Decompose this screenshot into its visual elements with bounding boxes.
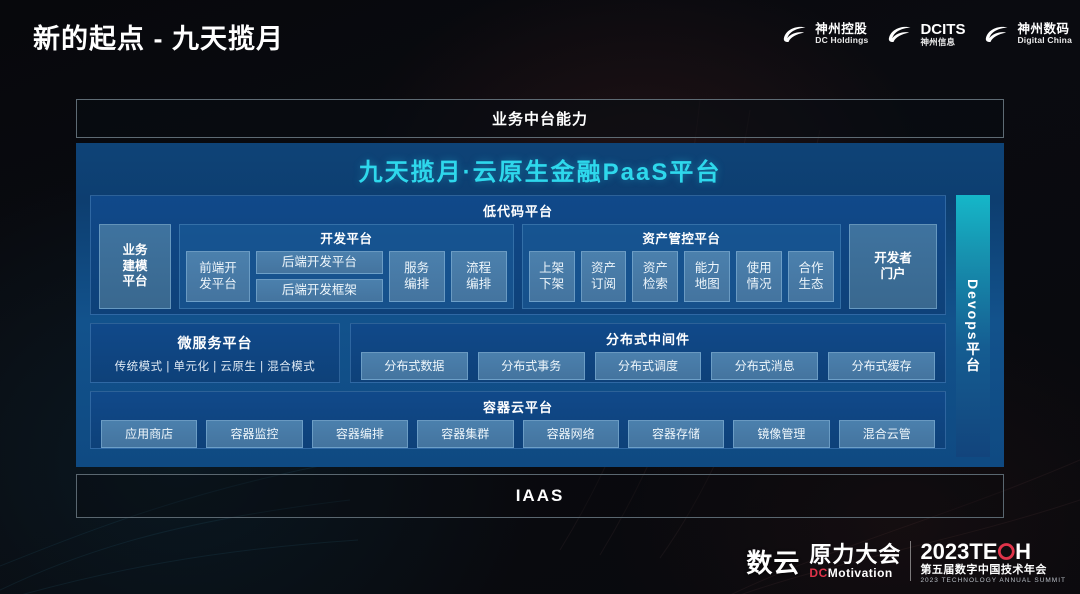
conference-year-post: H xyxy=(1015,539,1031,564)
tile-partner-ecosystem[interactable]: 合作 生态 xyxy=(788,251,834,302)
tile-backend-dev-platform[interactable]: 后端开发平台 xyxy=(256,251,383,274)
tile-container-cluster[interactable]: 容器集群 xyxy=(417,420,513,448)
iaas-layer-bar: IAAS xyxy=(76,474,1004,518)
tile-business-modeling-platform[interactable]: 业务 建模 平台 xyxy=(99,224,171,309)
tile-container-storage[interactable]: 容器存储 xyxy=(628,420,724,448)
slide-header: 新的起点 - 九天揽月 神州控股 DC Holdings DCITS 神州信息 xyxy=(0,0,1080,72)
tile-usage-status[interactable]: 使用 情况 xyxy=(736,251,782,302)
tile-process-orch-line2: 编排 xyxy=(466,277,491,293)
logo-dc-holdings: 神州控股 DC Holdings xyxy=(781,23,868,45)
conference-divider xyxy=(910,541,911,581)
tile-distributed-cache[interactable]: 分布式缓存 xyxy=(828,352,935,380)
conference-event-en-rest: Motivation xyxy=(828,566,893,580)
lowcode-platform-title: 低代码平台 xyxy=(99,196,937,224)
microservice-platform-modes: 传统模式 | 单元化 | 云原生 | 混合模式 xyxy=(115,358,316,374)
distributed-middleware-section: 分布式中间件 分布式数据 分布式事务 分布式调度 分布式消息 分布式缓存 xyxy=(350,323,946,383)
business-midplatform-capability-label: 业务中台能力 xyxy=(492,108,588,129)
tile-asset-5-line2: 生态 xyxy=(799,277,824,293)
tile-hybrid-cloud-management[interactable]: 混合云管 xyxy=(839,420,935,448)
page-title: 新的起点 - 九天揽月 xyxy=(33,17,284,56)
tile-developer-portal-line1: 开发者 xyxy=(874,251,912,267)
logo-dc-holdings-en: DC Holdings xyxy=(815,36,868,45)
tile-asset-0-line1: 上架 xyxy=(539,261,564,277)
paas-platform-body: Devops平台 低代码平台 业务 建模 平台 xyxy=(76,195,1004,459)
tile-asset-1-line2: 订阅 xyxy=(591,277,616,293)
tile-service-orchestration[interactable]: 服务 编排 xyxy=(389,251,445,302)
microservice-platform-section[interactable]: 微服务平台 传统模式 | 单元化 | 云原生 | 混合模式 xyxy=(90,323,340,383)
tile-frontend-dev-platform[interactable]: 前端开 发平台 xyxy=(186,251,250,302)
logo-digital-china-en: Digital China xyxy=(1017,36,1072,45)
container-cloud-title: 容器云平台 xyxy=(101,392,935,420)
tile-asset-5-line1: 合作 xyxy=(799,261,824,277)
tile-asset-onoff-shelf[interactable]: 上架 下架 xyxy=(529,251,575,302)
tile-asset-3-line2: 地图 xyxy=(695,277,720,293)
microservice-middleware-row: 微服务平台 传统模式 | 单元化 | 云原生 | 混合模式 分布式中间件 分布式… xyxy=(90,323,946,383)
tile-image-management[interactable]: 镜像管理 xyxy=(733,420,829,448)
conference-summit-en: 2023 TECHNOLOGY ANNUAL SUMMIT xyxy=(920,577,1066,584)
distributed-middleware-title: 分布式中间件 xyxy=(361,324,935,352)
conference-brand-cn: 数云 xyxy=(746,543,800,580)
tile-container-monitoring[interactable]: 容器监控 xyxy=(206,420,302,448)
tile-developer-portal[interactable]: 开发者 门户 xyxy=(849,224,937,309)
tile-distributed-transaction[interactable]: 分布式事务 xyxy=(478,352,585,380)
tile-process-orch-line1: 流程 xyxy=(466,261,491,277)
tile-app-store[interactable]: 应用商店 xyxy=(101,420,197,448)
tile-process-orchestration[interactable]: 流程 编排 xyxy=(451,251,507,302)
backend-tiles-group: 后端开发平台 后端开发框架 xyxy=(256,251,383,302)
dcits-swirl-logo-icon xyxy=(886,23,914,45)
tile-container-orchestration[interactable]: 容器编排 xyxy=(312,420,408,448)
conference-summit-cn: 第五届数字中国技术年会 xyxy=(920,564,1066,577)
iaas-label: IAAS xyxy=(516,486,565,506)
slide-root: 新的起点 - 九天揽月 神州控股 DC Holdings DCITS 神州信息 xyxy=(0,0,1080,594)
tile-distributed-data[interactable]: 分布式数据 xyxy=(361,352,468,380)
tile-asset-2-line1: 资产 xyxy=(643,261,668,277)
tile-business-modeling-line1: 业务 xyxy=(122,243,147,259)
container-cloud-section: 容器云平台 应用商店 容器监控 容器编排 容器集群 容器网络 容器存储 镜像管理… xyxy=(90,391,946,449)
devops-platform-rail: Devops平台 xyxy=(956,195,990,457)
lowcode-columns: 业务 建模 平台 开发平台 前端开 xyxy=(99,224,937,309)
tile-business-modeling-line3: 平台 xyxy=(122,274,147,290)
tile-distributed-message[interactable]: 分布式消息 xyxy=(711,352,818,380)
tile-business-modeling-line2: 建模 xyxy=(122,259,147,275)
tile-asset-search[interactable]: 资产 检索 xyxy=(632,251,678,302)
conference-year-pre: 2023TE xyxy=(920,539,997,564)
tile-distributed-scheduling[interactable]: 分布式调度 xyxy=(595,352,702,380)
conference-event-en: DCMotivation xyxy=(809,567,901,580)
logo-group: 神州控股 DC Holdings DCITS 神州信息 神州数码 xyxy=(781,22,1072,47)
business-midplatform-capability-bar: 业务中台能力 xyxy=(76,99,1004,138)
conference-event: 原力大会 DCMotivation xyxy=(809,543,901,579)
tile-asset-3-line1: 能力 xyxy=(695,261,720,277)
logo-digital-china: 神州数码 Digital China xyxy=(983,23,1072,45)
dev-platform-subpanel: 开发平台 前端开 发平台 后端开发平台 xyxy=(179,224,514,309)
tile-frontend-line1: 前端开 xyxy=(199,261,237,277)
conference-swirl-icon: ⭘ xyxy=(998,539,1016,564)
paas-platform-panel: 九天揽月·云原生金融PaaS平台 Devops平台 低代码平台 业务 建模 xyxy=(76,143,1004,467)
lowcode-platform-section: 低代码平台 业务 建模 平台 开发平台 xyxy=(90,195,946,315)
logo-dcits-en: 神州信息 xyxy=(920,38,965,47)
tile-service-orch-line2: 编排 xyxy=(404,277,429,293)
logo-dcits-cn: DCITS xyxy=(920,22,965,38)
tile-backend-dev-framework[interactable]: 后端开发框架 xyxy=(256,279,383,302)
paas-rows: 低代码平台 业务 建模 平台 开发平台 xyxy=(90,195,946,449)
tile-capability-map[interactable]: 能力 地图 xyxy=(684,251,730,302)
tile-asset-1-line1: 资产 xyxy=(591,261,616,277)
conference-brand: 数云 xyxy=(746,543,800,580)
tile-asset-2-line2: 检索 xyxy=(643,277,668,293)
container-cloud-tiles: 应用商店 容器监控 容器编排 容器集群 容器网络 容器存储 镜像管理 混合云管 xyxy=(101,420,935,448)
tile-asset-4-line1: 使用 xyxy=(747,261,772,277)
asset-management-title: 资产管控平台 xyxy=(529,228,834,251)
tile-asset-4-line2: 情况 xyxy=(747,277,772,293)
tile-container-network[interactable]: 容器网络 xyxy=(523,420,619,448)
conference-summit: 2023TE⭘H 第五届数字中国技术年会 2023 TECHNOLOGY ANN… xyxy=(920,539,1066,584)
microservice-platform-title: 微服务平台 xyxy=(178,333,253,353)
dc-swirl-logo-icon xyxy=(781,23,809,45)
tile-developer-portal-line2: 门户 xyxy=(874,267,912,283)
tile-asset-0-line2: 下架 xyxy=(539,277,564,293)
conference-event-en-dc: DC xyxy=(809,566,827,580)
digital-china-swirl-logo-icon xyxy=(983,23,1011,45)
devops-platform-label: Devops平台 xyxy=(963,279,983,374)
distributed-middleware-tiles: 分布式数据 分布式事务 分布式调度 分布式消息 分布式缓存 xyxy=(361,352,935,380)
logo-dcits: DCITS 神州信息 xyxy=(886,22,965,47)
conference-event-cn: 原力大会 xyxy=(809,543,901,566)
tile-service-orch-line1: 服务 xyxy=(404,261,429,277)
tile-frontend-line2: 发平台 xyxy=(199,277,237,293)
dev-platform-title: 开发平台 xyxy=(186,228,507,251)
tile-asset-subscription[interactable]: 资产 订阅 xyxy=(581,251,627,302)
asset-management-subpanel: 资产管控平台 上架 下架 资产 xyxy=(522,224,841,309)
dev-platform-row: 前端开 发平台 后端开发平台 后端开发框架 xyxy=(186,251,507,302)
paas-platform-title: 九天揽月·云原生金融PaaS平台 xyxy=(76,143,1004,195)
conference-logo: 数云 原力大会 DCMotivation 2023TE⭘H 第五届数字中国技术年… xyxy=(746,539,1066,584)
conference-year-row: 2023TE⭘H xyxy=(920,539,1066,564)
asset-management-row: 上架 下架 资产 订阅 xyxy=(529,251,834,302)
